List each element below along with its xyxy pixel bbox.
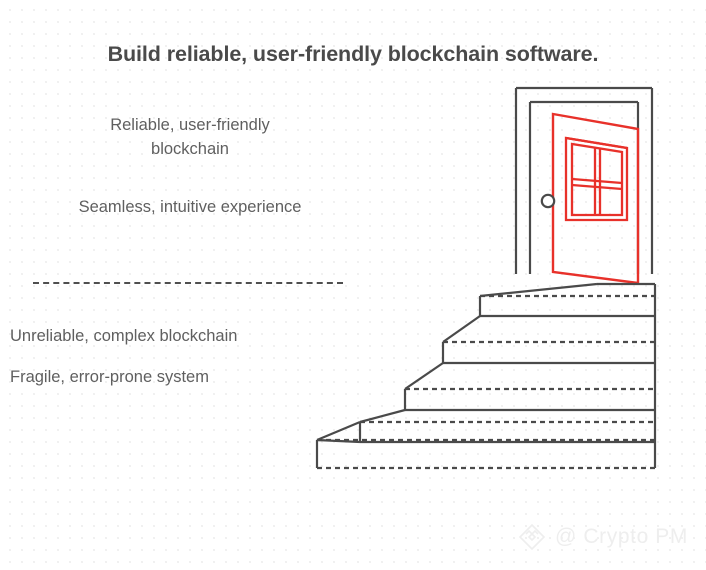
slide-canvas: Build reliable, user-friendly blockchain… (0, 0, 706, 570)
open-red-door-group (553, 114, 638, 283)
doorknob-icon (542, 195, 554, 207)
watermark: @ Crypto PM (517, 522, 688, 552)
window-outer-top-bevel (566, 138, 627, 148)
staircase-group (317, 284, 655, 468)
stair-step-1 (317, 422, 655, 468)
step-4-tread-edge (443, 316, 480, 342)
door-window-4-pane (566, 138, 627, 220)
window-mullion-horizontal-2 (572, 185, 622, 189)
page-title: Build reliable, user-friendly blockchain… (0, 42, 706, 67)
step-3-tread-edge (405, 363, 443, 389)
watermark-handle: @ Crypto PM (555, 525, 688, 549)
illustration-door-staircase (300, 78, 680, 478)
step-1-tread-edge-diag (317, 422, 360, 440)
stair-step-3 (405, 363, 655, 410)
stair-step-4 (443, 316, 655, 363)
dashed-divider (33, 282, 343, 284)
stair-step-5 (480, 284, 655, 316)
step-2-tread-edge (360, 410, 405, 422)
step-5-tread-edge (480, 284, 597, 296)
window-mullion-horizontal (572, 179, 622, 183)
diamond-chevron-logo-icon (517, 522, 547, 552)
stair-step-2 (360, 410, 655, 442)
